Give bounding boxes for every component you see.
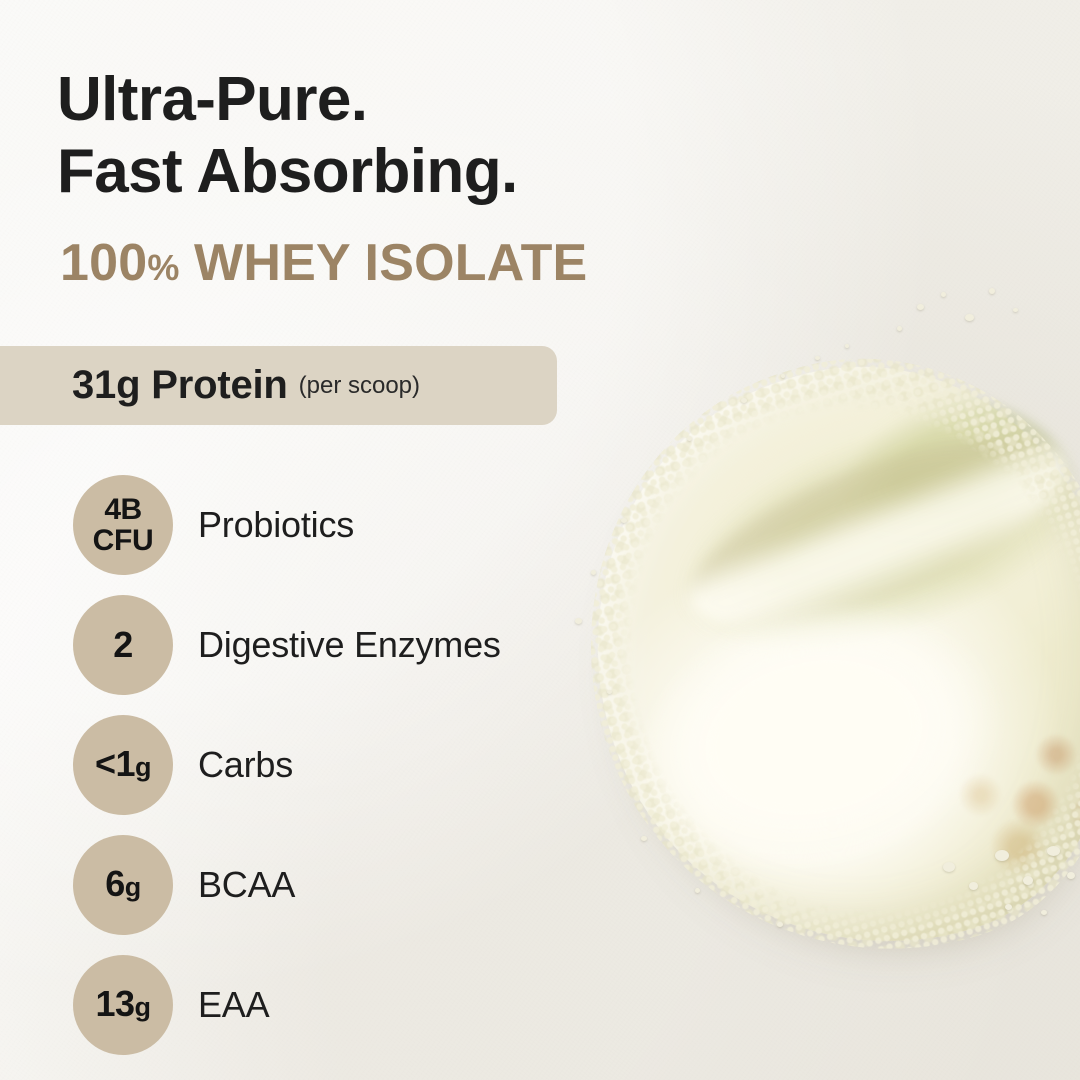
powder-speck (591, 570, 596, 575)
powder-lower-lobe (614, 562, 1068, 939)
subheading-number: 100 (60, 234, 147, 292)
headline: Ultra-Pure. Fast Absorbing. (57, 64, 518, 208)
powder-speck (1013, 308, 1018, 312)
powder-speck (815, 356, 820, 360)
subheading: 100% WHEY ISOLATE (60, 234, 587, 297)
stat-label: BCAA (198, 835, 295, 935)
stat-value: 4B (104, 494, 141, 525)
whey-powder-image (545, 270, 1080, 970)
stat-value-unit: g (125, 872, 141, 902)
protein-per-scoop-note: (per scoop) (299, 372, 420, 400)
powder-speck (943, 862, 955, 872)
protein-amount: 31g Protein (72, 363, 288, 408)
stat-value-number: <1 (95, 743, 135, 784)
stat-value: <1g (95, 746, 151, 785)
powder-speck (695, 888, 700, 893)
powder-speck (845, 344, 849, 348)
powder-speck (917, 304, 924, 310)
stat-badge: <1g (73, 715, 173, 815)
powder-speck (1005, 904, 1012, 910)
stat-badge: 4B CFU (73, 475, 173, 575)
stat-label: Carbs (198, 715, 293, 815)
stat-value: 6g (105, 866, 141, 905)
stat-label: Digestive Enzymes (198, 595, 501, 695)
powder-amber-flecks (809, 567, 1080, 933)
protein-banner: 31g Protein (per scoop) (0, 346, 557, 425)
product-infographic: Ultra-Pure. Fast Absorbing. 100% WHEY IS… (0, 0, 1080, 1080)
stat-value-unit: g (135, 752, 151, 782)
stat-value-number: 6 (105, 863, 125, 904)
powder-speck (995, 850, 1009, 861)
stat-value: 13g (95, 986, 150, 1025)
powder-speck (1047, 846, 1060, 856)
stat-value-number: 13 (95, 983, 134, 1024)
powder-speck (607, 690, 612, 694)
powder-speck (575, 618, 582, 624)
powder-speck (989, 288, 995, 294)
powder-green-tint (626, 347, 1080, 723)
stat-value: 2 (113, 627, 133, 663)
stat-badge: 13g (73, 955, 173, 1055)
headline-line-1: Ultra-Pure. (57, 64, 518, 136)
powder-speck (641, 836, 647, 841)
stat-label: Probiotics (198, 475, 354, 575)
powder-speck (1041, 910, 1047, 915)
powder-scoop-groove (667, 399, 1080, 666)
percent-symbol: % (147, 247, 179, 288)
powder-speck (1067, 872, 1075, 879)
powder-speck (781, 374, 785, 378)
stat-badge: 6g (73, 835, 173, 935)
powder-speck (897, 326, 902, 331)
subheading-text: WHEY ISOLATE (179, 234, 587, 292)
stat-value-sub: CFU (93, 525, 154, 556)
powder-edge-granules (518, 297, 1080, 1024)
powder-speck (969, 882, 978, 890)
powder-speck (777, 922, 783, 927)
headline-line-2: Fast Absorbing. (57, 136, 518, 208)
powder-speck (1023, 876, 1033, 885)
powder-speck (687, 436, 692, 441)
powder-speck (965, 314, 974, 321)
stat-value-unit: g (135, 992, 151, 1022)
powder-speck (621, 518, 627, 523)
powder-speck (741, 398, 747, 403)
stat-label: EAA (198, 955, 269, 1055)
powder-mound (527, 307, 1080, 1014)
powder-speck (941, 292, 946, 297)
stat-badge: 2 (73, 595, 173, 695)
